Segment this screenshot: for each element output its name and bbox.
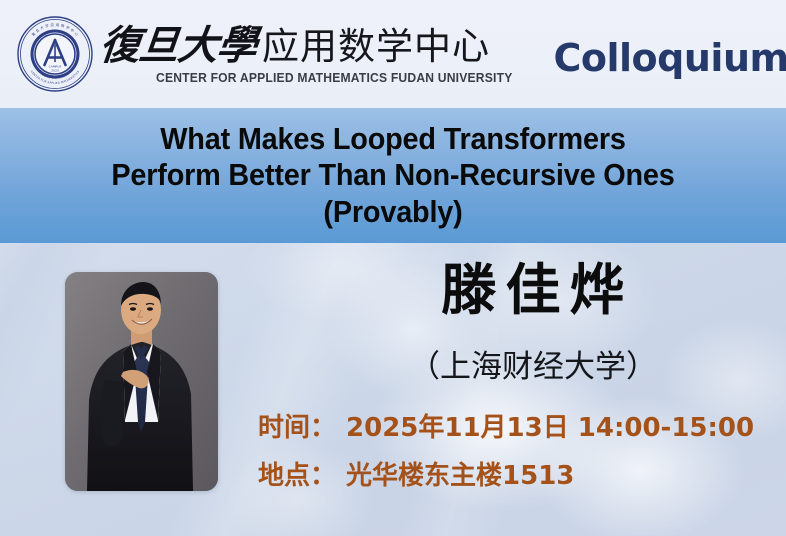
talk-title: What Makes Looped Transformers Perform B… [40, 121, 747, 230]
talk-title-line-3: (Provably) [40, 194, 747, 230]
talk-title-line-1: What Makes Looped Transformers [40, 121, 747, 157]
brand-name-en: CENTER FOR APPLIED MATHEMATICS FUDAN UNI… [156, 71, 512, 85]
fudan-cam-logo-icon: 复 旦 大 学 应 用 数 学 中 心 CENTER FOR APPLIED M… [16, 15, 94, 93]
svg-text:2023: 2023 [51, 69, 59, 73]
colloquium-heading: Colloquium报告 [554, 27, 786, 82]
speaker-name: 滕佳烨 [280, 262, 786, 317]
speaker-affiliation: （上海财经大学） [280, 352, 786, 383]
brand-university-name-cn: 復旦大學 [98, 26, 258, 66]
seminar-poster: 复 旦 大 学 应 用 数 学 中 心 CENTER FOR APPLIED M… [0, 0, 786, 536]
poster-header: 复 旦 大 学 应 用 数 学 中 心 CENTER FOR APPLIED M… [0, 0, 786, 108]
colloquium-label-en: Colloquium [554, 36, 786, 80]
event-location-label: 地点： [258, 461, 336, 491]
event-time-value: 2025年11月13日 14:00-15:00 [346, 413, 754, 443]
event-location-value: 光华楼东主楼1513 [346, 461, 574, 491]
event-location-row: 地点：光华楼东主楼1513 [258, 463, 754, 489]
talk-title-line-2: Perform Better Than Non-Recursive Ones [40, 157, 747, 193]
brand-chinese-row: 復旦大學 应用数学中心 [100, 26, 524, 66]
event-details: 时间：2025年11月13日 14:00-15:00 地点：光华楼东主楼1513 [258, 415, 754, 489]
brand-center-name-cn: 应用数学中心 [262, 28, 490, 65]
event-time-row: 时间：2025年11月13日 14:00-15:00 [258, 415, 754, 441]
talk-title-band: What Makes Looped Transformers Perform B… [0, 108, 786, 243]
brand-block: 復旦大學 应用数学中心 CENTER FOR APPLIED MATHEMATI… [100, 26, 524, 85]
event-time-label: 时间： [258, 413, 336, 443]
speaker-photo [65, 272, 218, 491]
